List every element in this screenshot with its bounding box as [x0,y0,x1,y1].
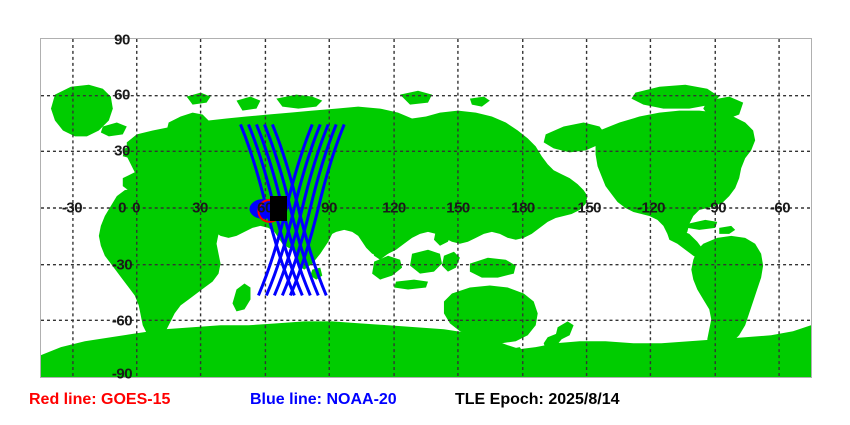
lon-label--30: -30 [62,201,82,216]
lat-label-60: 60 [114,88,130,103]
lat-label--30: -30 [112,258,132,273]
lon-label-30: 30 [192,201,208,216]
lat-label--60: -60 [112,314,132,329]
lat-label-90: 90 [114,33,130,48]
lon-label-0: 0 [132,201,140,216]
legend-goes15: Red line: GOES-15 [29,392,170,408]
legend-noaa20: Blue line: NOAA-20 [250,392,397,408]
lon-label--150: -150 [573,201,601,216]
lat-label--90: -90 [112,367,132,382]
lon-label--120: -120 [637,201,665,216]
lon-label-90: 90 [321,201,337,216]
world-map-svg [41,39,811,377]
map-plot-area [40,38,812,378]
legend-caption: Red line: GOES-15 Blue line: NOAA-20 TLE… [0,392,850,425]
legend-tle-epoch: TLE Epoch: 2025/8/14 [455,392,620,408]
satellite-track-map: -30 0 30 60 90 120 150 180 -150 -120 -90… [0,0,850,425]
lon-label-180: 180 [511,201,535,216]
lon-label--90: -90 [706,201,726,216]
lon-label-120: 120 [382,201,406,216]
lat-label-0: 0 [118,201,126,216]
lat-label-30: 30 [114,144,130,159]
label-occluder-box [270,196,287,221]
lon-label--60: -60 [770,201,790,216]
lon-label-150: 150 [446,201,470,216]
